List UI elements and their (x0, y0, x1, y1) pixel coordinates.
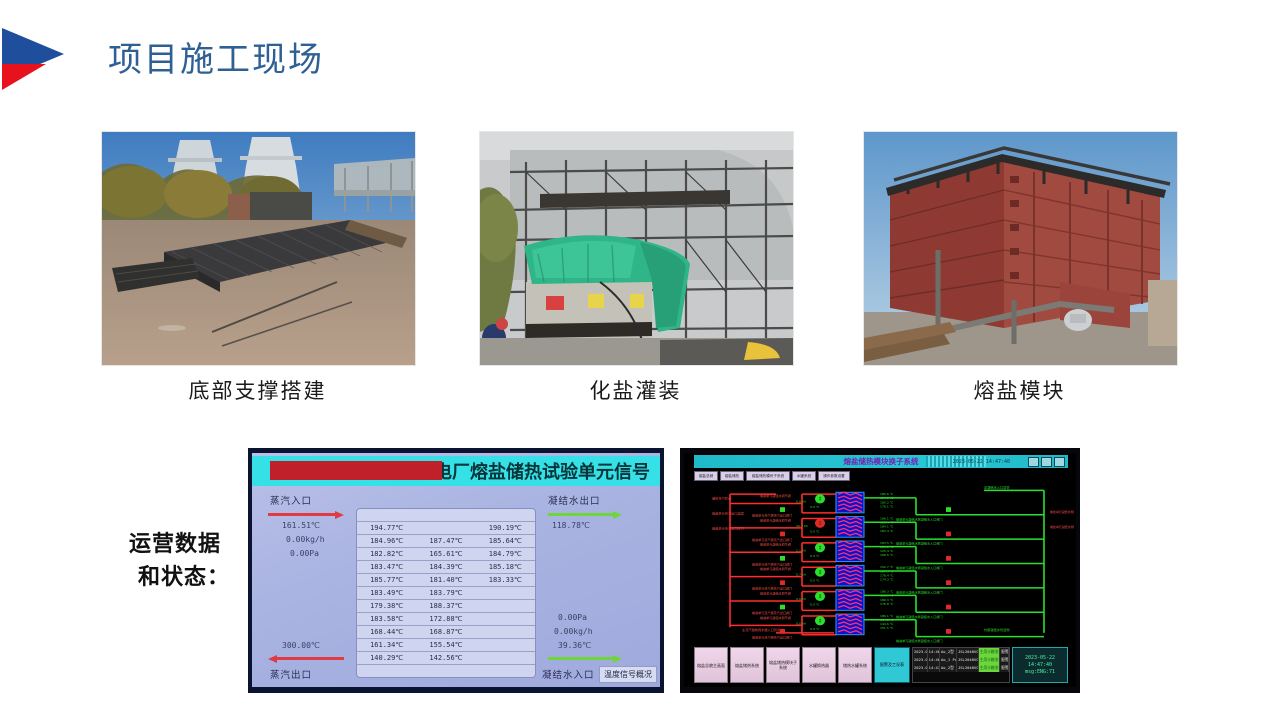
svg-text:熔盐单元蒸汽侧蒸汽出口阀门: 熔盐单元蒸汽侧蒸汽出口阀门 (752, 586, 792, 591)
table-row: 194.77℃190.19℃ (357, 522, 535, 535)
table-cell: 142.56℃ (416, 652, 475, 664)
svg-text:179.1 ℃: 179.1 ℃ (880, 505, 894, 509)
alarm-cell: 14:47:10 (928, 664, 940, 672)
svg-text:0.0 ℃: 0.0 ℃ (810, 530, 820, 534)
table-cell (476, 613, 535, 625)
svg-text:20.7 t/h: 20.7 t/h (796, 524, 808, 528)
close-icon[interactable] (1054, 457, 1065, 467)
photo-3-illustration (864, 132, 1177, 365)
table-cell: 185.18℃ (476, 561, 535, 573)
table-cell: 183.79℃ (416, 587, 475, 599)
minimize-icon[interactable] (1028, 457, 1039, 467)
hmi-steam-outlet-temp: 300.00℃ (282, 641, 320, 650)
table-cell: 181.40℃ (416, 574, 475, 586)
table-row (357, 509, 535, 522)
table-cell: 184.96℃ (357, 535, 416, 547)
scada-nav-button-3[interactable]: 水罐换热器 (802, 647, 836, 683)
table-row: 183.49℃183.79℃ (357, 587, 535, 600)
process-flow-svg: 总凝结水入口总管储热蒸汽管道熔盐单元蒸汽出口温度熔盐单元蒸汽出口压力↕熔盐单元凝… (684, 481, 1076, 645)
alarm-cell: 14:46:47 (928, 656, 940, 664)
condensate-valve-0 (946, 507, 951, 512)
hmi-condensate-inlet-flow: 0.00kg/h (554, 627, 593, 636)
svg-text:183.4 ℃: 183.4 ℃ (880, 529, 894, 533)
table-cell (476, 665, 535, 677)
alarm-cell: JSL2040VC1500 (957, 664, 979, 672)
caption-photo-1: 底部支撑搭建 (101, 375, 414, 405)
table-row: 161.34℃155.54℃ (357, 639, 535, 652)
table-cell: 168.44℃ (357, 626, 416, 638)
hmi-condensate-inlet-temp: 39.36℃ (558, 641, 591, 650)
table-cell: 184.79℃ (476, 548, 535, 560)
table-cell: 165.61℃ (416, 548, 475, 560)
scada-bottom-bar: 熔盐总貌主画面熔盐储热系统熔盐储热模块子系统水罐换热器储热水罐系统 报警及工况表… (694, 647, 1068, 683)
svg-text:0.0 ℃: 0.0 ℃ (810, 627, 820, 631)
operations-data-label: 运营数据 和状态： (100, 528, 250, 594)
svg-text:0.0 t/h: 0.0 t/h (796, 621, 806, 625)
table-cell (476, 509, 535, 521)
condensate-valve-5 (946, 629, 951, 634)
caption-photo-2: 化盐灌装 (479, 375, 792, 405)
scada-nav-button-1[interactable]: 熔盐储热系统 (730, 647, 764, 683)
alarm-cell: JSL2040VC1500 (957, 648, 979, 656)
svg-text:熔盐单元凝结水调节阀: 熔盐单元凝结水调节阀 (760, 517, 791, 522)
slide-root: 项目施工现场 (0, 0, 1280, 720)
scada-title: 熔盐储热模块换子系统 (844, 456, 919, 467)
condensate-valve-3 (946, 580, 951, 585)
svg-text:主蒸汽储热疏水器入口管道: 主蒸汽储热疏水器入口管道 (742, 627, 780, 632)
svg-text:151.5 ℃: 151.5 ℃ (880, 626, 894, 630)
table-row (357, 665, 535, 677)
alarm-cell: 14:46:17 (928, 648, 940, 656)
table-cell (416, 509, 475, 521)
table-cell: 183.58℃ (357, 613, 416, 625)
condensate-valve-1 (946, 532, 951, 537)
table-cell: 187.47℃ (416, 535, 475, 547)
outlet-valve-0 (780, 507, 785, 512)
table-cell: 185.77℃ (357, 574, 416, 586)
table-cell (357, 509, 416, 521)
svg-text:↕: ↕ (818, 497, 823, 503)
photo-salt-filling (479, 131, 794, 366)
hmi-condensate-inlet-pressure: 0.00Pa (558, 613, 587, 622)
svg-text:↕: ↕ (818, 570, 823, 576)
scada-toolbar-item-4[interactable]: 操作参数设置 (818, 471, 850, 481)
scada-toolbar-item-1[interactable]: 熔盐储热 (720, 471, 744, 481)
table-cell (476, 600, 535, 612)
hmi-steam-inlet-pressure: 0.00Pa (290, 549, 319, 558)
alarm-cell: 报警 (1000, 648, 1009, 656)
alarm-cell: 报警 (1000, 664, 1009, 672)
table-cell: 161.34℃ (357, 639, 416, 651)
condensate-valve-4 (946, 605, 951, 610)
svg-text:总凝结水入口总管: 总凝结水入口总管 (984, 485, 1010, 490)
alarm-cell: JSL2040VC1500 (957, 656, 979, 664)
outlet-valve-1 (780, 532, 785, 537)
svg-text:0.0 ℃: 0.0 ℃ (810, 505, 820, 509)
window-controls[interactable] (1028, 457, 1065, 467)
svg-text:熔盐单元蒸汽侧蒸汽出口阀门: 熔盐单元蒸汽侧蒸汽出口阀门 (752, 513, 792, 518)
ops-label-line2: 和状态： (100, 561, 250, 594)
photo-2-illustration (480, 132, 793, 365)
scada-nav-button-0[interactable]: 熔盐总貌主画面 (694, 647, 728, 683)
svg-text:外部凝结水管道侧: 外部凝结水管道侧 (984, 627, 1010, 632)
table-cell: 168.87℃ (416, 626, 475, 638)
svg-text:熔盐单元凝结水调节阀: 熔盐单元凝结水调节阀 (760, 591, 791, 596)
svg-text:熔盐单元凝结水侧凝结水入口阀门: 熔盐单元凝结水侧凝结水入口阀门 (896, 565, 942, 570)
table-cell: 194.77℃ (357, 522, 416, 534)
table-cell: 183.47℃ (357, 561, 416, 573)
svg-text:176.8 ℃: 176.8 ℃ (880, 602, 894, 606)
svg-text:熔盐单元蒸汽出口温度: 熔盐单元蒸汽出口温度 (712, 511, 744, 516)
scada-titlebar-datetime: 2023-05-22 14:47:40 (953, 459, 1010, 465)
scada-toolbar-item-3[interactable]: 水罐系统 (792, 471, 816, 481)
hmi-steam-outlet-label: 蒸汽出口 (270, 667, 312, 681)
redacted-plant-name (270, 461, 442, 480)
table-cell (476, 652, 535, 664)
outlet-valve-4 (780, 605, 785, 610)
svg-text:熔盐单元蒸汽侧蒸汽出口阀门: 熔盐单元蒸汽侧蒸汽出口阀门 (752, 561, 792, 566)
alarm-cell: Ao_1 Po 0 (940, 656, 957, 664)
alarm-cell: 主用卡触发报警 (979, 656, 1001, 664)
scada-screen: 熔盐储热模块换子系统 2023-05-22 14:47:40 熔盐总貌熔盐储热熔… (684, 453, 1076, 687)
alarm-panel-header: 报警及工况表 (874, 647, 910, 683)
table-cell (416, 665, 475, 677)
table-cell: 179.38℃ (357, 600, 416, 612)
table-row: 182.82℃165.61℃184.79℃ (357, 548, 535, 561)
ops-label-line1: 运营数据 (129, 531, 221, 557)
photo-salt-module (863, 131, 1178, 366)
table-row: 179.38℃188.37℃ (357, 600, 535, 613)
svg-text:0.0 ℃: 0.0 ℃ (810, 603, 820, 607)
photo-1-illustration (102, 132, 415, 365)
table-cell: 155.54℃ (416, 639, 475, 651)
table-cell: 140.29℃ (357, 652, 416, 664)
temperature-signal-overview-button[interactable]: 温度信号概况 (599, 666, 657, 683)
scada-process-diagram: 总凝结水入口总管储热蒸汽管道熔盐单元蒸汽出口温度熔盐单元蒸汽出口压力↕熔盐单元凝… (684, 481, 1076, 645)
scada-toolbar-item-2[interactable]: 熔盐储热模块子系统 (746, 471, 790, 481)
table-cell: 172.88℃ (416, 613, 475, 625)
hmi-title: 电厂熔盐储热试验单元信号 (434, 458, 650, 484)
photo-bottom-support (101, 131, 416, 366)
svg-text:↕: ↕ (818, 619, 823, 625)
scada-nav-buttons[interactable]: 熔盐总貌主画面熔盐储热系统熔盐储热模块子系统水罐换热器储热水罐系统 (694, 647, 872, 683)
outlet-valve-2 (780, 556, 785, 561)
hmi-condensate-outlet-label: 凝结水出口 (548, 493, 601, 507)
table-cell (476, 587, 535, 599)
svg-text:熔盐单元凝结水侧: 熔盐单元凝结水侧 (1050, 509, 1074, 514)
alarm-cell: 2023-05-22 (913, 664, 928, 672)
alarm-cell: Ao_2型 Po 0 (940, 664, 957, 672)
table-row: 185.77℃181.40℃183.33℃ (357, 574, 535, 587)
scada-panel: 熔盐储热模块换子系统 2023-05-22 14:47:40 熔盐总貌熔盐储热熔… (680, 448, 1080, 693)
svg-text:0.0 ℃: 0.0 ℃ (810, 578, 820, 582)
outlet-valve-5 (780, 629, 785, 634)
svg-text:熔盐单元凝结水调节阀: 熔盐单元凝结水调节阀 (760, 566, 791, 571)
steam-inlet-arrow (268, 511, 344, 518)
hmi-steam-inlet-temp: 161.51℃ (282, 521, 320, 530)
table-cell: 185.64℃ (476, 535, 535, 547)
condensate-inlet-arrow (548, 655, 622, 662)
table-cell: 182.82℃ (357, 548, 416, 560)
scada-clock: 2023-05-22 14:47:40 msg:ENG:71 (1012, 647, 1068, 683)
svg-text:熔盐单元凝结水侧凝结水入口阀门: 熔盐单元凝结水侧凝结水入口阀门 (896, 590, 942, 595)
condensate-outlet-arrow (548, 511, 622, 518)
clock-date: 2023-05-22 (1025, 655, 1055, 661)
scada-title-bar: 熔盐储热模块换子系统 2023-05-22 14:47:40 (694, 455, 1068, 468)
svg-text:储热蒸汽管道: 储热蒸汽管道 (712, 496, 731, 501)
table-cell: 190.19℃ (476, 522, 535, 534)
svg-text:174.3 ℃: 174.3 ℃ (880, 578, 894, 582)
condensate-valve-2 (946, 556, 951, 561)
svg-text:熔盐单元凝结水侧凝结水入口阀门: 熔盐单元凝结水侧凝结水入口阀门 (896, 541, 942, 546)
hmi-screen: 电厂熔盐储热试验单元信号 蒸汽入口 161.51℃ 0.00kg/h 0.00P… (252, 453, 660, 687)
hmi-condensate-inlet-label: 凝结水入口 (542, 667, 595, 681)
clock-msg: msg:ENG:71 (1025, 669, 1055, 675)
hmi-steam-inlet-label: 蒸汽入口 (270, 493, 312, 507)
alarm-cell: 报警 (1000, 656, 1009, 664)
svg-text:熔盐单元凝结水侧凝结水入口阀门: 熔盐单元凝结水侧凝结水入口阀门 (896, 516, 942, 521)
svg-text:熔盐单元蒸汽侧蒸汽出口阀门: 熔盐单元蒸汽侧蒸汽出口阀门 (752, 635, 792, 640)
outlet-valve-3 (780, 580, 785, 585)
scada-toolbar-item-0[interactable]: 熔盐总貌 (694, 471, 718, 481)
svg-text:1.1 t/h: 1.1 t/h (796, 548, 806, 552)
hmi-header: 电厂熔盐储热试验单元信号 (252, 456, 660, 486)
scada-nav-button-2[interactable]: 熔盐储热模块子系统 (766, 647, 800, 683)
scada-toolbar[interactable]: 熔盐总貌熔盐储热熔盐储热模块子系统水罐系统操作参数设置 (694, 471, 850, 481)
table-row: 183.58℃172.88℃ (357, 613, 535, 626)
svg-text:166.5 ℃: 166.5 ℃ (880, 553, 894, 557)
alarm-row[interactable]: 2023-05-2214:47:10Ao_2型 Po 0JSL2040VC150… (913, 664, 1009, 672)
table-cell: 183.49℃ (357, 587, 416, 599)
table-cell (357, 665, 416, 677)
hmi-steam-inlet-flow: 0.00kg/h (286, 535, 325, 544)
table-cell (476, 626, 535, 638)
alarm-cell: 主用卡触发报警 (979, 664, 1001, 672)
alarm-cell: 主用卡触发报警 (979, 648, 1001, 656)
steam-outlet-arrow (268, 655, 344, 662)
alarm-row[interactable]: 2023-05-2214:46:17Ao_2型 Po 0JSL2040VC150… (913, 648, 1009, 656)
table-cell: 188.37℃ (416, 600, 475, 612)
svg-text:熔盐单元凝结水侧凝结水入口阀门: 熔盐单元凝结水侧凝结水入口阀门 (896, 614, 942, 619)
svg-text:↕: ↕ (818, 546, 823, 552)
svg-text:熔盐单元凝结水调节阀: 熔盐单元凝结水调节阀 (760, 493, 791, 498)
hmi-condensate-outlet-temp: 118.78℃ (552, 521, 590, 530)
triangle-logo (2, 28, 68, 102)
svg-text:熔盐单元凝结水侧凝结水入口阀门: 熔盐单元凝结水侧凝结水入口阀门 (896, 638, 942, 643)
maximize-icon[interactable] (1041, 457, 1052, 467)
svg-text:熔盐单元凝结水调节阀: 熔盐单元凝结水调节阀 (760, 615, 791, 620)
alarm-cell: 2023-05-22 (913, 648, 928, 656)
svg-text:0.0 ℃: 0.0 ℃ (810, 554, 820, 558)
svg-text:熔盐单元凝结水调节阀: 熔盐单元凝结水调节阀 (760, 542, 791, 547)
svg-text:0.0 t/h: 0.0 t/h (796, 500, 806, 504)
table-cell: 184.39℃ (416, 561, 475, 573)
svg-text:0.7 t/h: 0.7 t/h (796, 573, 806, 577)
alarm-row[interactable]: 2023-05-2214:46:47Ao_1 Po 0JSL2040VC1500… (913, 656, 1009, 664)
table-row: 183.47℃184.39℃185.18℃ (357, 561, 535, 574)
table-cell (476, 639, 535, 651)
svg-text:熔盐单元蒸汽侧蒸汽出口阀门: 熔盐单元蒸汽侧蒸汽出口阀门 (752, 537, 792, 542)
table-row: 168.44℃168.87℃ (357, 626, 535, 639)
hmi-signal-panel: 电厂熔盐储热试验单元信号 蒸汽入口 161.51℃ 0.00kg/h 0.00P… (248, 448, 664, 693)
table-cell: 183.33℃ (476, 574, 535, 586)
svg-text:↕: ↕ (818, 521, 823, 527)
svg-text:0.0 t/h: 0.0 t/h (796, 597, 806, 601)
table-row: 184.96℃187.47℃185.64℃ (357, 535, 535, 548)
clock-time: 14:47:40 (1028, 662, 1052, 668)
svg-text:↕: ↕ (818, 594, 823, 600)
hmi-temperature-table: 194.77℃190.19℃184.96℃187.47℃185.64℃182.8… (356, 508, 536, 678)
table-cell (416, 522, 475, 534)
table-row: 140.29℃142.56℃ (357, 652, 535, 665)
alarm-log-table[interactable]: 2023-05-2214:46:17Ao_2型 Po 0JSL2040VC150… (912, 647, 1010, 683)
caption-photo-3: 熔盐模块 (863, 375, 1176, 405)
svg-text:熔盐单元蒸汽侧蒸汽出口阀门: 熔盐单元蒸汽侧蒸汽出口阀门 (752, 610, 792, 615)
alarm-cell: 2023-05-22 (913, 656, 928, 664)
scada-nav-button-4[interactable]: 储热水罐系统 (838, 647, 872, 683)
svg-text:熔盐单元凝结水侧: 熔盐单元凝结水侧 (1050, 524, 1074, 529)
page-title: 项目施工现场 (108, 40, 324, 81)
svg-text:熔盐单元蒸汽出口压力: 熔盐单元蒸汽出口压力 (712, 526, 744, 531)
alarm-cell: Ao_2型 Po 0 (940, 648, 957, 656)
logo-red-triangle (2, 64, 46, 90)
